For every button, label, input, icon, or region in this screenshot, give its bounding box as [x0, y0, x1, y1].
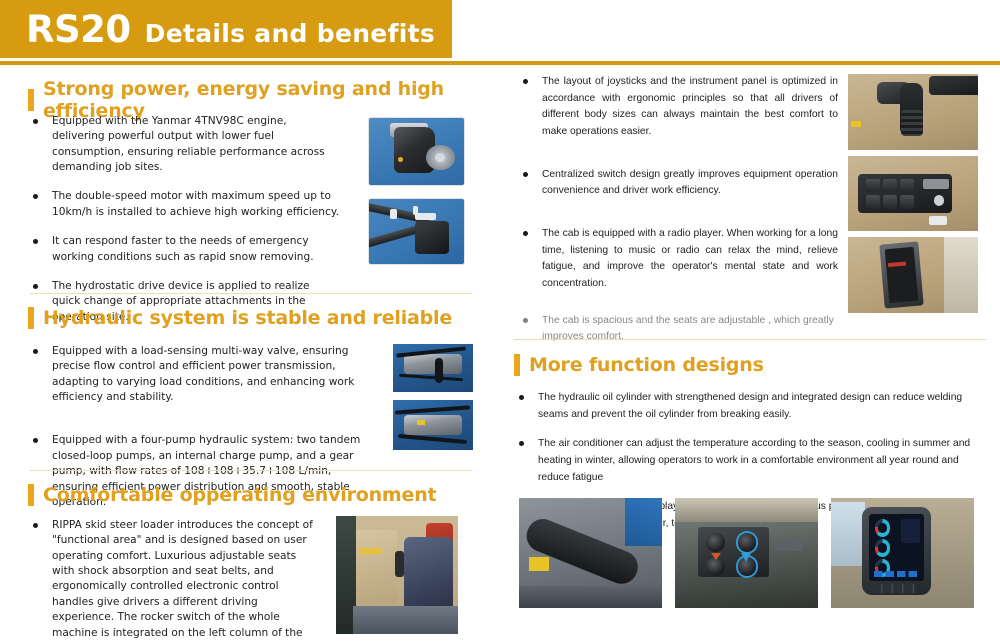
bullet-dot [523, 231, 528, 236]
bullet-dot [523, 318, 528, 323]
section-title: More function designs [529, 354, 764, 376]
cab-side-panel [356, 530, 397, 603]
radio-unit [879, 242, 923, 309]
bullet-text: It can respond faster to the needs of em… [52, 235, 314, 262]
list-item: The layout of joysticks and the instrume… [518, 74, 838, 141]
header-title: RS20 Details and benefits [26, 8, 435, 51]
heading-accent-bar [514, 354, 520, 376]
display-screen [869, 514, 924, 581]
joystick-boot [901, 110, 923, 136]
bullet-dot [33, 523, 38, 528]
list-item: The double-speed motor with maximum spee… [28, 189, 340, 220]
rocker-switch [866, 195, 880, 209]
section-title: Comfortable opperating environment [43, 484, 436, 506]
cab-decal [360, 548, 382, 554]
hose [368, 225, 420, 249]
hydraulic-hose [395, 405, 470, 414]
cab-interior-photo [336, 516, 458, 634]
pump-label [417, 420, 425, 425]
bullet-text: Equipped with a load-sensing multi-way v… [52, 345, 354, 403]
temperature-indicator [711, 553, 721, 560]
bullet-dot [33, 349, 38, 354]
radio-faceplate [884, 247, 918, 303]
right-column: The layout of joysticks and the instrume… [500, 66, 1000, 643]
cab-floor [353, 606, 458, 634]
bullet-dot [33, 194, 38, 199]
safety-decal [529, 557, 549, 570]
pump-system-photo-image [393, 400, 473, 450]
list-item: Centralized switch design greatly improv… [518, 167, 838, 200]
multi-way-valve-photo [393, 344, 473, 392]
cab-ceiling [675, 498, 818, 522]
engine-fan [426, 145, 455, 170]
display-window [923, 179, 949, 190]
bullet-text: The hydraulic oil cylinder with strength… [538, 392, 962, 420]
control-joystick [395, 551, 405, 577]
valve-body [404, 354, 462, 374]
pump-housing [404, 415, 462, 435]
gauge-fuel [875, 519, 890, 536]
switch-panel-photo-image [848, 156, 978, 231]
engine-photo [368, 117, 465, 186]
list-item: The cab is spacious and the seats are ad… [518, 313, 838, 346]
machine-body-blue [625, 498, 662, 546]
rocker-switch [883, 195, 897, 209]
gauge-temperature [875, 539, 890, 556]
warning-decal [851, 121, 861, 127]
cab-photo-image [336, 516, 458, 634]
engine-detail [398, 157, 404, 162]
ac-knob [706, 557, 725, 576]
rocker-switch [900, 195, 914, 209]
rocker-switch [900, 179, 914, 193]
section-divider [30, 470, 472, 471]
heading-accent-bar [28, 89, 34, 111]
info-panel [901, 519, 920, 543]
bullet-text: The air conditioner can adjust the tempe… [538, 438, 970, 482]
radio-photo-image [848, 237, 978, 313]
bullet-text: Equipped with the Yanmar 4TNV98C engine,… [52, 115, 325, 173]
bullet-dot [523, 79, 528, 84]
screen-buttons [874, 571, 920, 577]
bullet-dot [519, 395, 524, 400]
air-conditioner-photo [675, 498, 818, 608]
brochure-page: RS20 Details and benefits Strong power, … [0, 0, 1000, 643]
ac-vent [775, 538, 804, 551]
bullet-dot [33, 239, 38, 244]
bullet-text: Centralized switch design greatly improv… [542, 169, 838, 197]
frame-lower [519, 586, 662, 608]
pump-body [415, 221, 449, 254]
rocker-switch [866, 179, 880, 193]
bullet-dot [33, 119, 38, 124]
hydraulic-hose [399, 373, 463, 381]
bullet-dot [33, 284, 38, 289]
list-item: Equipped with a load-sensing multi-way v… [28, 344, 373, 405]
bullet-text: The double-speed motor with maximum spee… [52, 190, 339, 217]
list-item: The air conditioner can adjust the tempe… [514, 436, 984, 486]
bullet-text: The cab is equipped with a radio player.… [542, 228, 838, 289]
pump-fitting [415, 213, 436, 220]
header-subtitle: Details and benefits [145, 19, 435, 48]
list-item: The hydraulic oil cylinder with strength… [514, 390, 984, 423]
list-item: RIPPA skid steer loader introduces the c… [28, 518, 318, 643]
hydrostatic-photo-image [369, 199, 464, 264]
section-title: Hydraulic system is stable and reliable [43, 307, 452, 329]
key-tag [929, 216, 947, 225]
list-item: The cab is equipped with a radio player.… [518, 226, 838, 293]
header-rule [0, 61, 1000, 65]
hydraulic-cylinder-photo [519, 498, 662, 608]
rocker-switch [883, 179, 897, 193]
section-divider [30, 293, 472, 294]
hydrostatic-drive-photo [368, 198, 465, 265]
joystick-photo [848, 74, 978, 150]
section-divider [514, 339, 986, 340]
left-column: Strong power, energy saving and high eff… [0, 66, 500, 643]
bullet-text: RIPPA skid steer loader introduces the c… [52, 519, 313, 643]
bullet-text: The layout of joysticks and the instrume… [542, 76, 838, 137]
ac-photo-image [675, 498, 818, 608]
cab-trim [944, 237, 978, 313]
radio-player-photo [848, 237, 978, 313]
ignition-key [934, 195, 944, 206]
switch-panel-photo [848, 156, 978, 231]
joystick-photo-image [848, 74, 978, 150]
bullet-dot [523, 172, 528, 177]
list-item: It can respond faster to the needs of em… [28, 234, 340, 265]
bullet-dot [519, 441, 524, 446]
model-code: RS20 [26, 8, 131, 51]
display-bezel [862, 507, 931, 595]
ac-knob [706, 533, 725, 552]
valve-photo-image [393, 344, 473, 392]
list-item: Equipped with the Yanmar 4TNV98C engine,… [28, 114, 340, 175]
lcd-photo-image [831, 498, 974, 608]
bullet-list-cab-features: The layout of joysticks and the instrume… [518, 74, 838, 346]
heading-accent-bar [28, 484, 34, 506]
hose-clamp [390, 209, 397, 219]
engine-photo-image [369, 118, 464, 185]
hydraulic-hose [435, 358, 443, 383]
heading-accent-bar [28, 307, 34, 329]
window-view [831, 502, 865, 566]
section-heading-more-functions: More function designs [514, 354, 764, 376]
hydraulic-hose [398, 434, 467, 444]
switch-strip [929, 76, 978, 96]
bullet-list-comfortable: RIPPA skid steer loader introduces the c… [28, 518, 318, 643]
four-pump-system-photo [393, 400, 473, 450]
hardware-buttons [872, 584, 916, 593]
section-heading-comfortable: Comfortable opperating environment [28, 484, 436, 506]
bullet-dot [33, 438, 38, 443]
section-heading-hydraulic: Hydraulic system is stable and reliable [28, 307, 452, 329]
lcd-display-photo [831, 498, 974, 608]
temperature-indicator [741, 553, 751, 562]
cylinder-photo-image [519, 498, 662, 608]
